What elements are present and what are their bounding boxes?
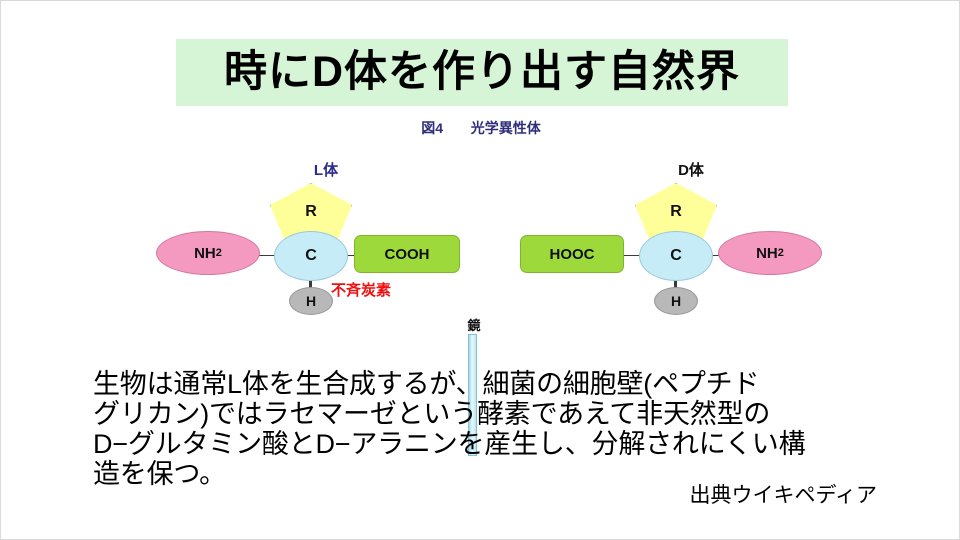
amine-group-d: NH2: [718, 231, 822, 275]
figure-caption-number: 図4: [421, 120, 443, 136]
mirror-label: 鏡: [454, 315, 494, 334]
carboxyl-group-l: COOH: [354, 235, 460, 273]
central-carbon-d: C: [639, 231, 713, 281]
amine-subscript-l: 2: [216, 247, 222, 259]
body-line: 生物は通常L体を生合成するが、細菌の細胞壁(ペプチド: [93, 369, 883, 399]
isomer-label-l: L体: [266, 163, 386, 178]
body-line: グリカン)ではラセマーゼという酵素であえて非天然型の: [93, 399, 883, 429]
hydrogen-atom-l: H: [289, 287, 333, 315]
molecule-d-isomer: D体 R HOOC C NH2 H: [506, 151, 836, 331]
amine-label-l: NH: [194, 245, 216, 262]
amine-group-l: NH2: [156, 231, 260, 275]
amine-label-d: NH: [756, 245, 778, 262]
slide-canvas: 時にD体を作り出す自然界 図4 光学異性体 L体 R NH2 C COOH H …: [0, 0, 960, 540]
page-title: 時にD体を作り出す自然界: [224, 51, 740, 94]
asymmetric-carbon-annotation: 不斉炭素: [331, 279, 391, 300]
carboxyl-group-d: HOOC: [520, 235, 624, 273]
optical-isomer-figure: L体 R NH2 C COOH H 不斉炭素 鏡 D体: [1, 151, 960, 331]
figure-caption: 図4 光学異性体: [1, 118, 960, 138]
title-banner: 時にD体を作り出す自然界: [176, 39, 788, 106]
hydrogen-atom-d: H: [654, 287, 698, 315]
amine-subscript-d: 2: [778, 247, 784, 259]
isomer-label-d: D体: [631, 163, 751, 178]
source-attribution: 出典ウイキペディア: [689, 485, 877, 506]
figure-caption-text: 光学異性体: [471, 120, 541, 136]
body-paragraph: 生物は通常L体を生合成するが、細菌の細胞壁(ペプチド グリカン)ではラセマーゼと…: [93, 369, 883, 489]
central-carbon-l: C: [274, 231, 348, 281]
molecule-l-isomer: L体 R NH2 C COOH H 不斉炭素: [146, 151, 476, 331]
body-line: D−グルタミン酸とD−アラニンを産生し、分解されにくい構: [93, 429, 883, 459]
